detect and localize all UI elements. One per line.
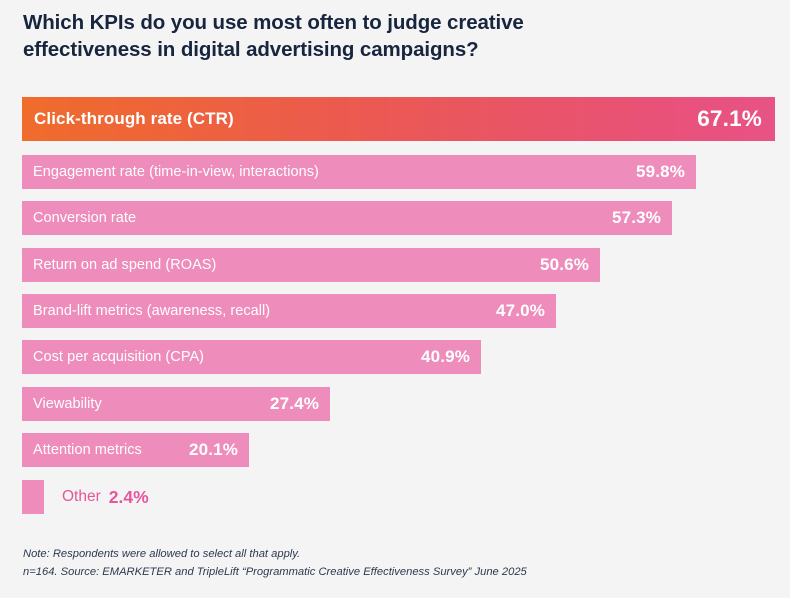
bar-value: 27.4% [270, 394, 319, 414]
bar-label: Conversion rate [33, 210, 136, 226]
bar-row[interactable]: Brand-lift metrics (awareness, recall)47… [22, 294, 556, 328]
bar-row[interactable]: Attention metrics20.1% [22, 433, 249, 467]
bar-value: 40.9% [421, 347, 470, 367]
bar-label: Return on ad spend (ROAS) [33, 257, 216, 273]
bar-value: 59.8% [636, 162, 685, 182]
bar-row[interactable]: Cost per acquisition (CPA)40.9% [22, 340, 481, 374]
bar-label: Engagement rate (time-in-view, interacti… [33, 164, 319, 180]
bar-label-other: Other [62, 488, 101, 506]
bar-label: Viewability [33, 396, 102, 412]
bar-chart-plot-area: Click-through rate (CTR)67.1%Engagement … [0, 0, 790, 598]
bar-label: Attention metrics [33, 442, 142, 458]
bar-label: Click-through rate (CTR) [34, 109, 234, 129]
bar-row[interactable]: Conversion rate57.3% [22, 201, 672, 235]
bar-fill-other [22, 480, 44, 514]
bar-row[interactable]: Return on ad spend (ROAS)50.6% [22, 248, 600, 282]
chart-container: Which KPIs do you use most often to judg… [0, 0, 790, 598]
bar-value: 20.1% [189, 440, 238, 460]
bar-value: 50.6% [540, 255, 589, 275]
bar-row-other[interactable]: Other2.4% [22, 480, 149, 514]
bar-value: 47.0% [496, 301, 545, 321]
bar-value: 67.1% [697, 106, 762, 132]
bar-label: Cost per acquisition (CPA) [33, 349, 204, 365]
chart-footnote: Note: Respondents were allowed to select… [23, 546, 753, 581]
chart-footnote-note: Note: Respondents were allowed to select… [23, 546, 753, 564]
chart-footnote-source: n=164. Source: EMARKETER and TripleLift … [23, 564, 753, 582]
bar-row[interactable]: Engagement rate (time-in-view, interacti… [22, 155, 696, 189]
bar-value-other: 2.4% [109, 487, 149, 508]
bar-value: 57.3% [612, 208, 661, 228]
bar-label: Brand-lift metrics (awareness, recall) [33, 303, 270, 319]
bar-row[interactable]: Viewability27.4% [22, 387, 330, 421]
bar-row[interactable]: Click-through rate (CTR)67.1% [22, 97, 775, 141]
